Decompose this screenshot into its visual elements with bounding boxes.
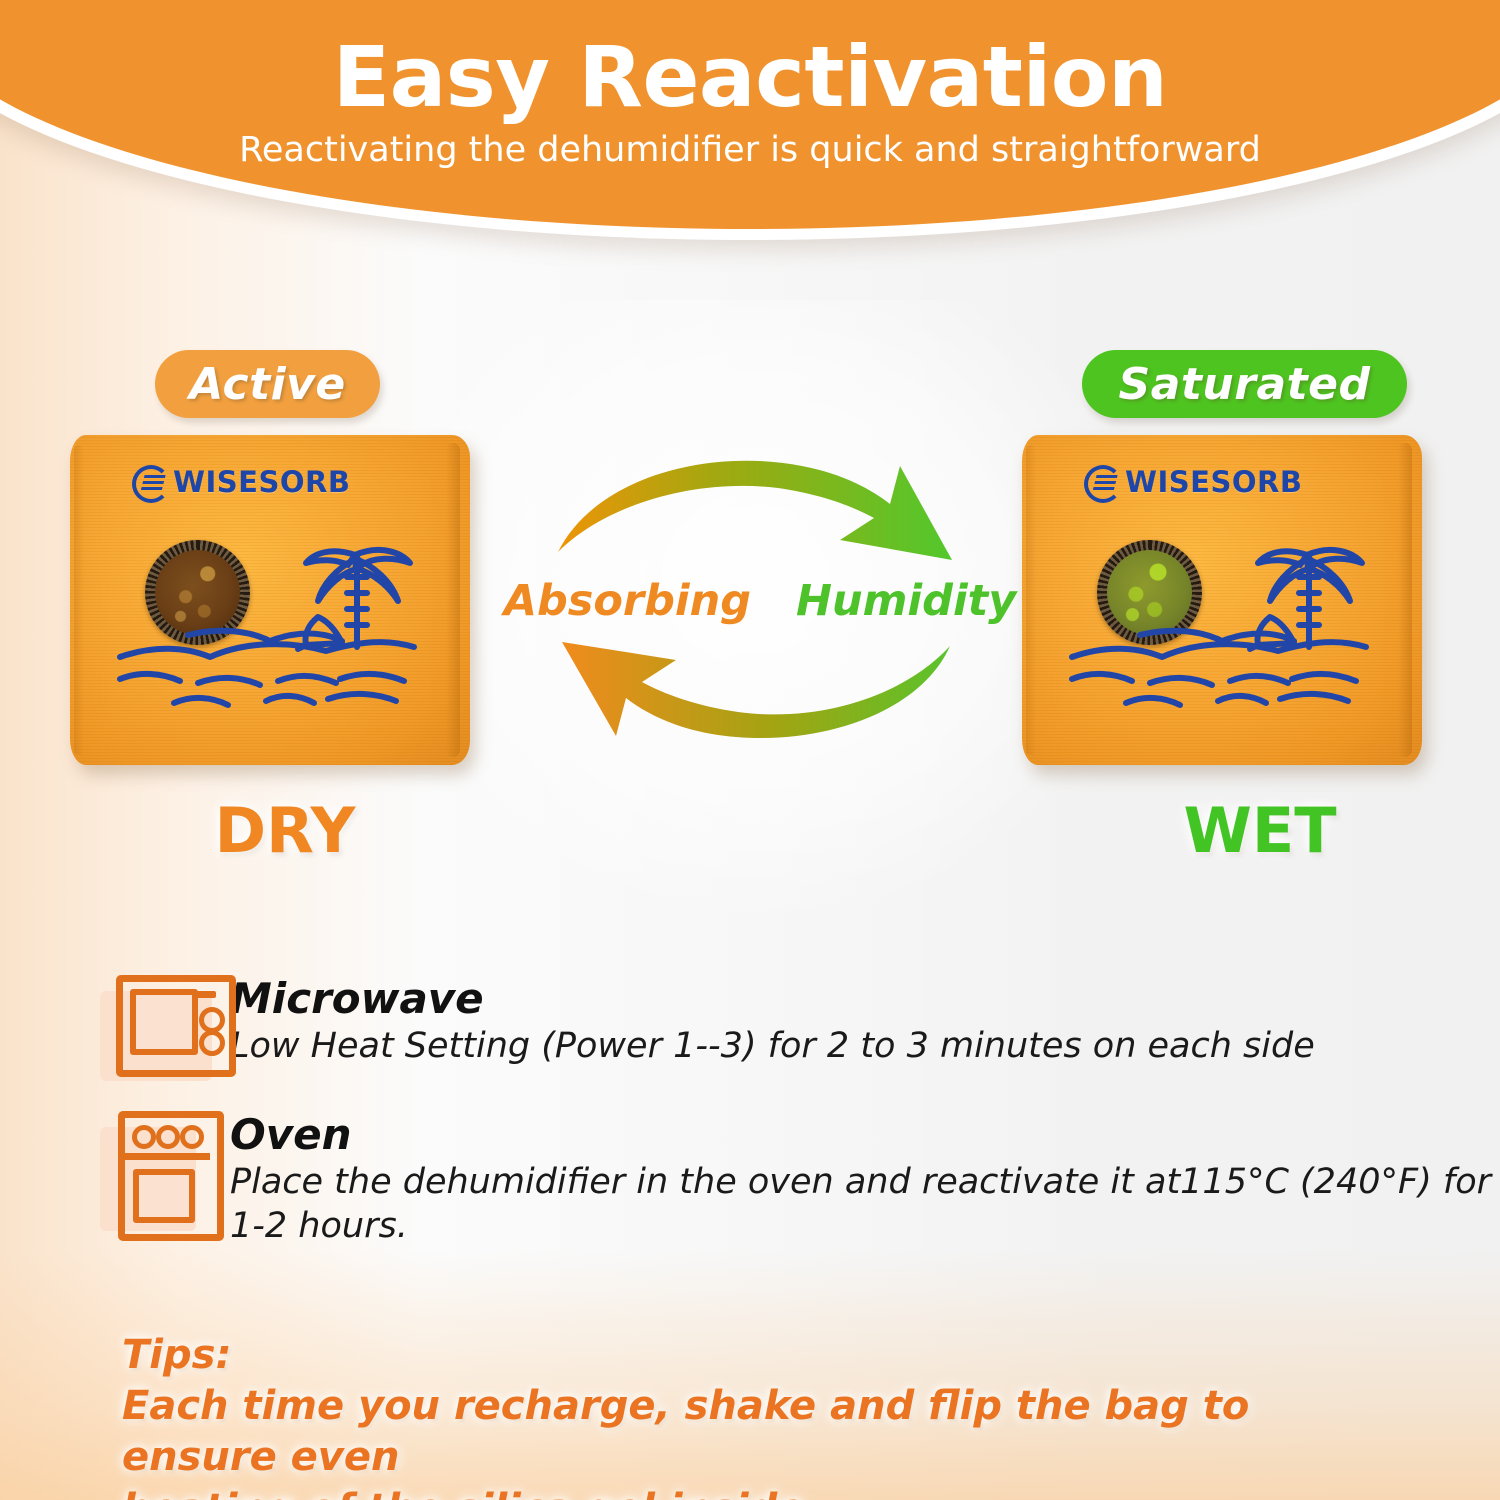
dehumidifier-bag-dry: WISESORB — [70, 435, 470, 765]
header-inner-curve: Easy Reactivation Reactivating the dehum… — [0, 0, 1500, 229]
state-label-wet: WET — [1100, 800, 1420, 862]
beach-embroidery-icon — [1022, 435, 1422, 765]
instruction-description: Place the dehumidifier in the oven and r… — [230, 1161, 1500, 1249]
instruction-title: Oven — [230, 1113, 1500, 1157]
bag-fabric-body: WISESORB — [1022, 435, 1422, 765]
bag-fabric-body: WISESORB — [70, 435, 470, 765]
comparison-section: Active WISESORB — [0, 330, 1500, 890]
header-text-block: Easy Reactivation Reactivating the dehum… — [0, 35, 1500, 168]
instruction-row-oven: Oven Place the dehumidifier in the oven … — [0, 1111, 1500, 1249]
tips-heading: Tips: — [122, 1330, 1412, 1381]
status-badge-saturated: Saturated — [1082, 350, 1407, 418]
page-subtitle: Reactivating the dehumidifier is quick a… — [0, 133, 1500, 168]
state-label-dry: DRY — [125, 800, 445, 862]
tips-line-2: heating of the silica gel inside. — [122, 1484, 1412, 1500]
microwave-icon — [100, 975, 230, 1095]
tips-section: Tips: Each time you recharge, shake and … — [122, 1330, 1412, 1500]
oven-icon — [100, 1111, 230, 1231]
instruction-title: Microwave — [230, 977, 1315, 1021]
instruction-description: Low Heat Setting (Power 1--3) for 2 to 3… — [230, 1025, 1315, 1069]
infographic-page: Easy Reactivation Reactivating the dehum… — [0, 0, 1500, 1500]
instruction-text-oven: Oven Place the dehumidifier in the oven … — [230, 1111, 1500, 1249]
cycle-label: Absorbing Humidity — [500, 580, 1020, 623]
beach-embroidery-icon — [70, 435, 470, 765]
header-banner: Easy Reactivation Reactivating the dehum… — [0, 0, 1500, 240]
dehumidifier-bag-wet: WISESORB — [1022, 435, 1422, 765]
instruction-text-microwave: Microwave Low Heat Setting (Power 1--3) … — [230, 975, 1315, 1069]
cycle-label-part2: Humidity — [796, 576, 1016, 626]
status-badge-active: Active — [155, 350, 380, 418]
instruction-row-microwave: Microwave Low Heat Setting (Power 1--3) … — [0, 975, 1500, 1095]
cycle-label-part1: Absorbing — [504, 576, 751, 626]
instructions-section: Microwave Low Heat Setting (Power 1--3) … — [0, 975, 1500, 1265]
page-title: Easy Reactivation — [0, 35, 1500, 119]
tips-line-1: Each time you recharge, shake and flip t… — [122, 1381, 1412, 1483]
